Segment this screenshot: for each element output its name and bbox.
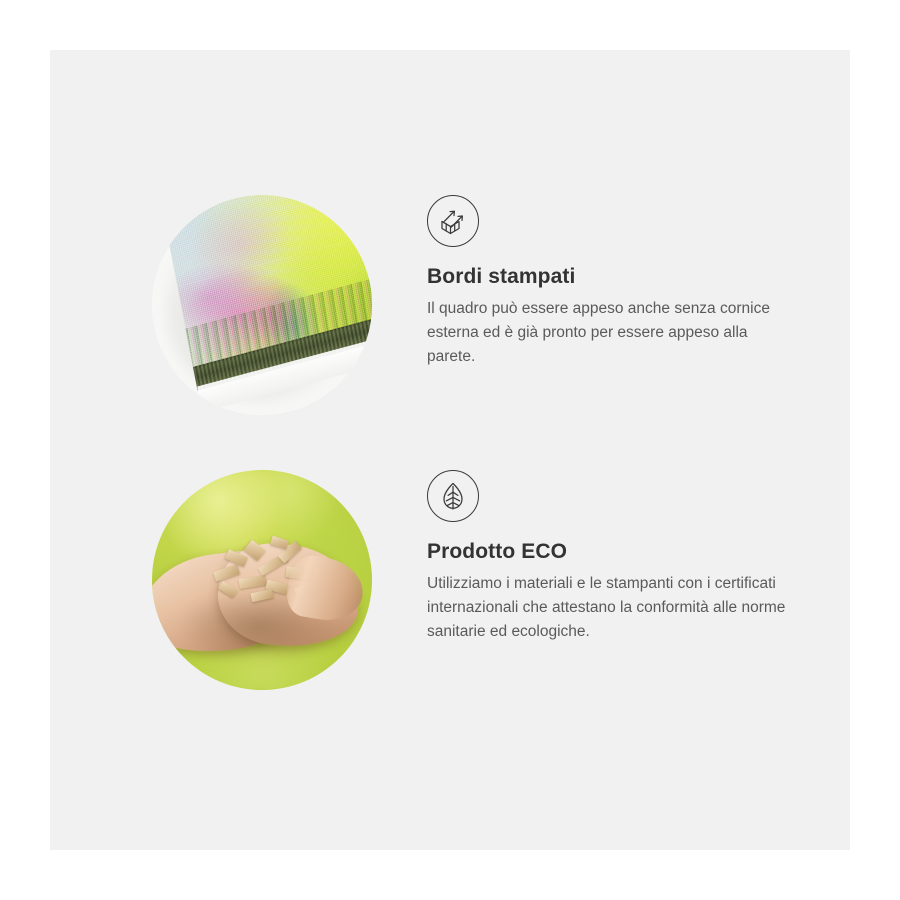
feature-description-printed-edges: Il quadro può essere appeso anche senza …: [427, 297, 795, 369]
feature-title-printed-edges: Bordi stampati: [427, 265, 807, 289]
leaf-icon: [427, 470, 479, 522]
canvas-corner-photo-wrap: [152, 195, 372, 415]
canvas-block: [160, 195, 372, 412]
feature-description-eco-product: Utilizziamo i materiali e le stampanti c…: [427, 572, 795, 644]
product-info-page: Bordi stampati Il quadro può essere appe…: [0, 0, 900, 900]
canvas-wrapped-edges-icon: [427, 195, 479, 247]
wood-chips-in-hands-photo: [152, 470, 372, 690]
eco-product-text-column: Prodotto ECO Utilizziamo i materiali e l…: [427, 470, 807, 644]
feature-title-eco-product: Prodotto ECO: [427, 540, 807, 564]
content-panel: Bordi stampati Il quadro può essere appe…: [50, 50, 850, 850]
wood-chips-photo-wrap: [152, 470, 372, 690]
printed-edges-text-column: Bordi stampati Il quadro può essere appe…: [427, 195, 807, 369]
canvas-corner-photo: [152, 195, 372, 415]
